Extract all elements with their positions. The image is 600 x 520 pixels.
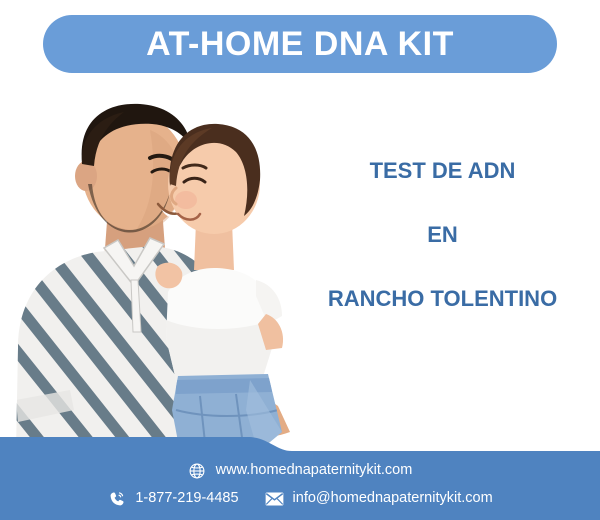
headline-block: TEST DE ADN EN RANCHO TOLENTINO: [300, 160, 585, 310]
promo-card: AT-HOME DNA KIT: [0, 0, 600, 520]
phone-ringing-icon: [107, 489, 126, 508]
footer-website-label: www.homednapaternitykit.com: [216, 463, 413, 478]
globe-icon: [188, 461, 207, 480]
footer-email-label: info@homednapaternitykit.com: [293, 491, 493, 506]
headline-line-2: EN: [300, 224, 585, 246]
family-photo: [0, 80, 330, 450]
envelope-icon: [265, 489, 284, 508]
footer-phone[interactable]: 1-877-219-4485: [107, 489, 238, 508]
contact-footer: www.homednapaternitykit.com 1-877-219-44…: [0, 425, 600, 520]
headline-line-1: TEST DE ADN: [300, 160, 585, 182]
footer-website[interactable]: www.homednapaternitykit.com: [188, 461, 413, 480]
headline-line-3-location: RANCHO TOLENTINO: [300, 288, 585, 310]
footer-phone-label: 1-877-219-4485: [135, 491, 238, 506]
page-title: AT-HOME DNA KIT: [146, 27, 454, 61]
footer-email[interactable]: info@homednapaternitykit.com: [265, 489, 493, 508]
header-pill-banner: AT-HOME DNA KIT: [43, 15, 557, 73]
